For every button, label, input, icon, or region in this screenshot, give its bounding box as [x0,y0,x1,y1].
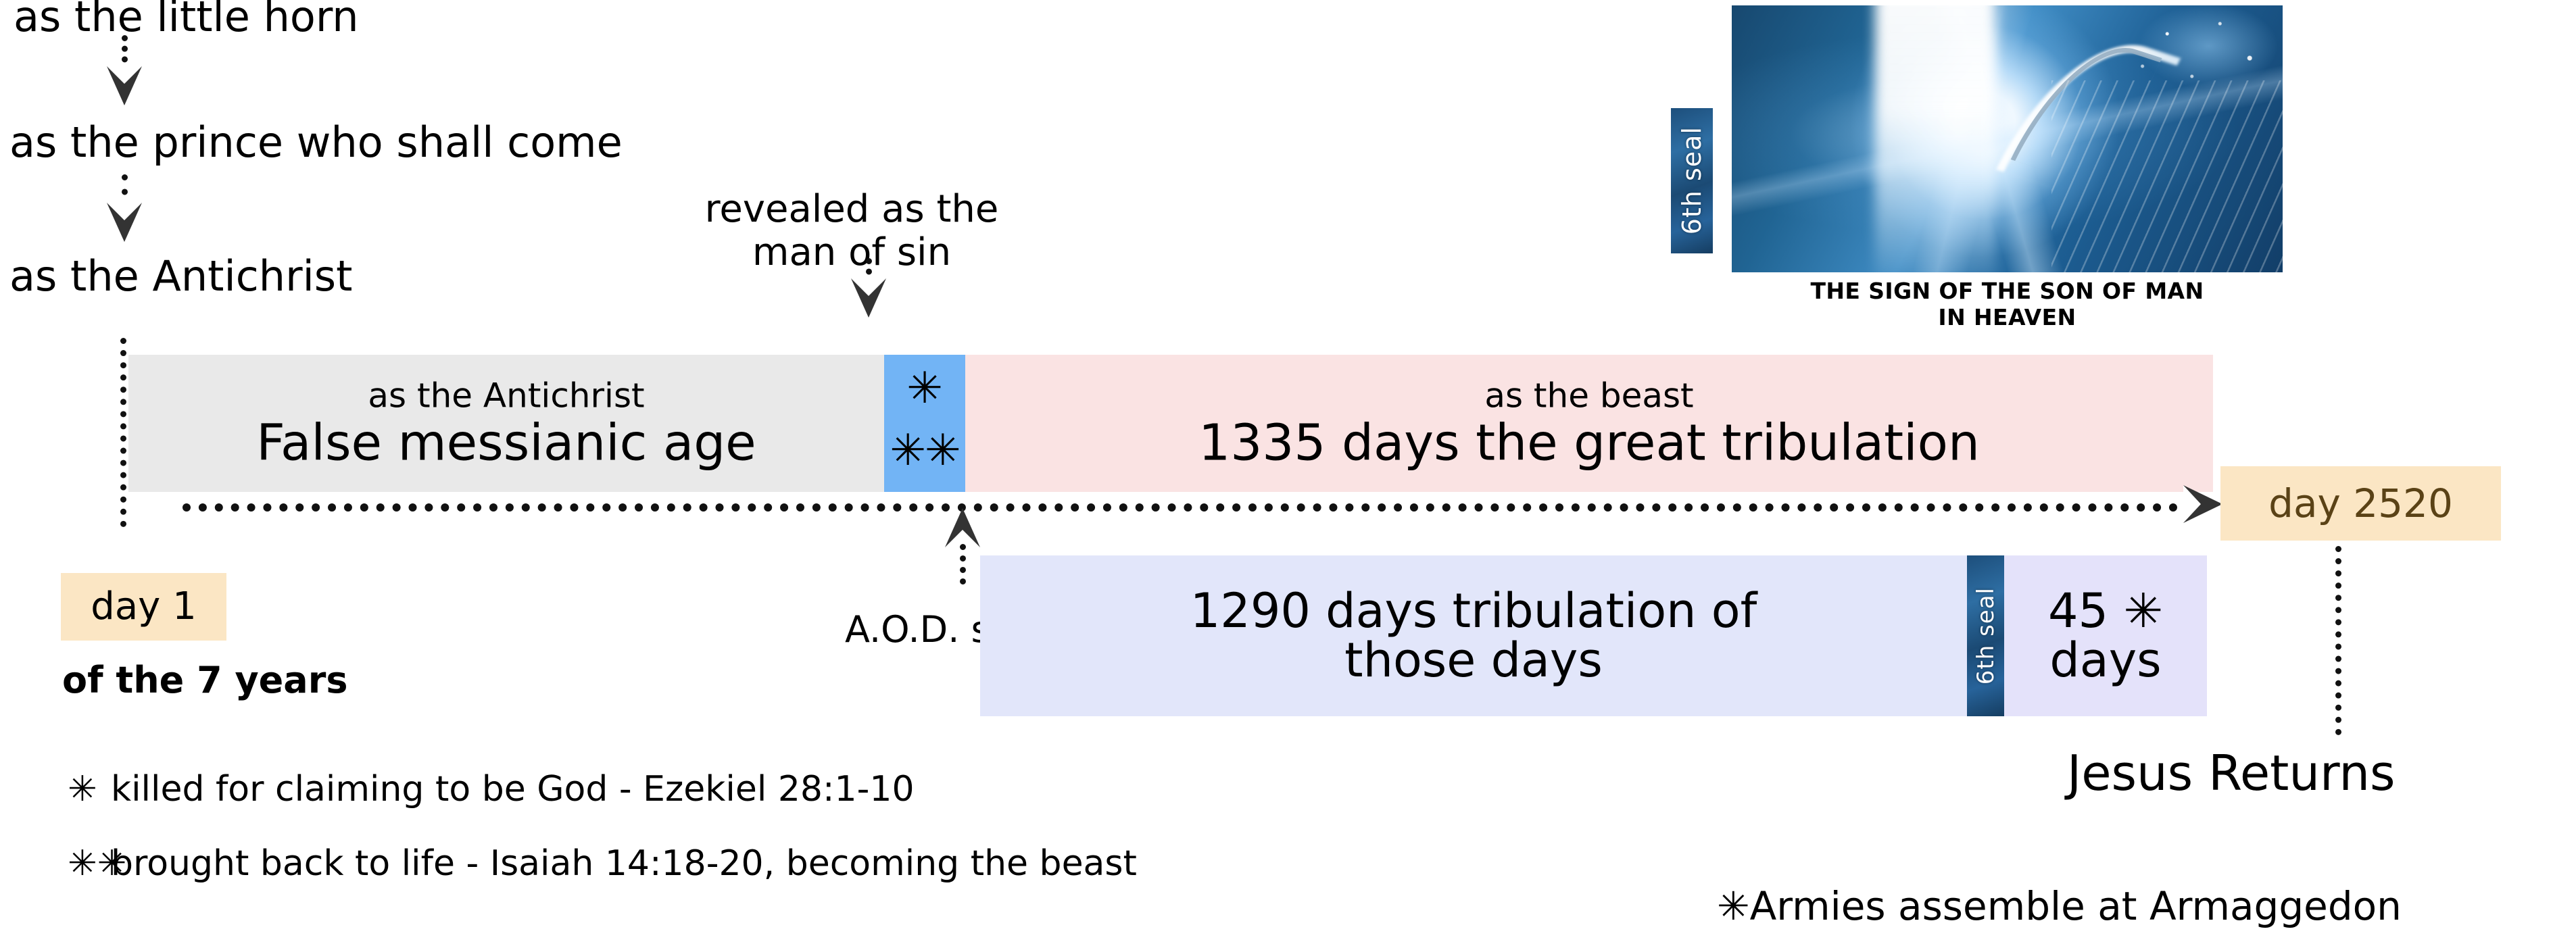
chain-label-little-horn: as the little horn [14,0,359,38]
chip-day-2520-label: day 2520 [2268,484,2453,523]
chip-day-1-label: day 1 [91,588,196,626]
segment-1290-line1: 1290 days tribulation of [980,587,1967,636]
callout-revealed-man-of-sin: revealed as the man of sin [676,188,1027,274]
segment-death-resurrection-marker[interactable]: ✳ ✳✳ [884,355,965,492]
segment-antichrist-sublabel: as the Antichrist [128,378,884,413]
chip-day-1[interactable]: day 1 [61,573,226,641]
callout-revealed-line2: man of sin [676,231,1027,274]
footnote-one: ✳killed for claiming to be God - Ezekiel… [68,772,915,807]
segment-beast-mainlabel: 1335 days the great tribulation [965,417,2213,469]
start-marker-vertical-dots [120,338,126,527]
footnote-two-text: brought back to life - Isaiah 14:18-20, … [111,843,1137,884]
jesus-returns-label: Jesus Returns [2067,749,2396,797]
chain-arrow-down-1 [107,66,142,105]
seal-tab-6th-seal-photo-label: 6th seal [1677,126,1707,234]
photo-meteor-streaks [2051,80,2283,272]
segment-45-days[interactable]: 45 ✳ days [2004,555,2207,716]
segment-great-tribulation-text: as the beast 1335 days the great tribula… [965,378,2213,469]
callout-revealed-line1: revealed as the [676,188,1027,231]
photo-caption: THE SIGN OF THE SON OF MAN IN HEAVEN [1732,278,2283,331]
photo-caption-line1: THE SIGN OF THE SON OF MAN [1732,278,2283,305]
armageddon-note: ✳Armies assemble at Armaggedon [1717,887,2402,926]
footnote-one-marker: ✳ [68,772,111,807]
segment-45-days-line2: days [2004,636,2207,685]
footnote-two-marker: ✳✳ [68,846,111,881]
segment-beast-sublabel: as the beast [965,378,2213,413]
segment-1290-days-text: 1290 days tribulation of those days [980,587,1967,685]
segment-1290-days-tribulation[interactable]: 1290 days tribulation of those days [980,555,1967,716]
segment-45-days-line1: 45 ✳ [2004,587,2207,636]
chain-label-antichrist: as the Antichrist [9,255,352,297]
end-marker-vertical-dots [2335,546,2341,735]
marker-asterisk-double: ✳✳ [884,429,965,472]
aod-connector-dots [960,544,966,584]
sign-of-son-of-man-image [1732,5,2283,272]
chain-arrow-down-2 [107,203,142,242]
segment-45-days-text: 45 ✳ days [2004,587,2207,685]
seal-tab-6th-seal-bar-label: 6th seal [1972,587,1999,684]
start-sub-label: of the 7 years [62,659,347,701]
chip-day-2520[interactable]: day 2520 [2220,466,2501,541]
aod-arrow-up [945,508,980,547]
revealed-arrow-down [851,278,886,318]
segment-false-messianic-age[interactable]: as the Antichrist False messianic age [128,355,884,492]
photo-caption-line2: IN HEAVEN [1732,305,2283,331]
segment-false-messianic-age-text: as the Antichrist False messianic age [128,378,884,469]
timeline-dotted-axis [183,503,2210,512]
seal-tab-6th-seal-photo[interactable]: 6th seal [1671,108,1713,253]
timeline-end-arrow [2183,485,2222,523]
seal-tab-6th-seal-bar[interactable]: 6th seal [1967,555,2004,716]
chain-label-prince: as the prince who shall come [9,122,623,164]
marker-asterisk-single: ✳ [884,367,965,410]
segment-antichrist-mainlabel: False messianic age [128,417,884,469]
footnote-two: ✳✳brought back to life - Isaiah 14:18-20… [68,846,1137,881]
segment-1290-line2: those days [980,636,1967,685]
photo-light-beam [1875,5,1996,272]
segment-great-tribulation[interactable]: as the beast 1335 days the great tribula… [965,355,2213,492]
footnote-one-text: killed for claiming to be God - Ezekiel … [111,769,915,810]
